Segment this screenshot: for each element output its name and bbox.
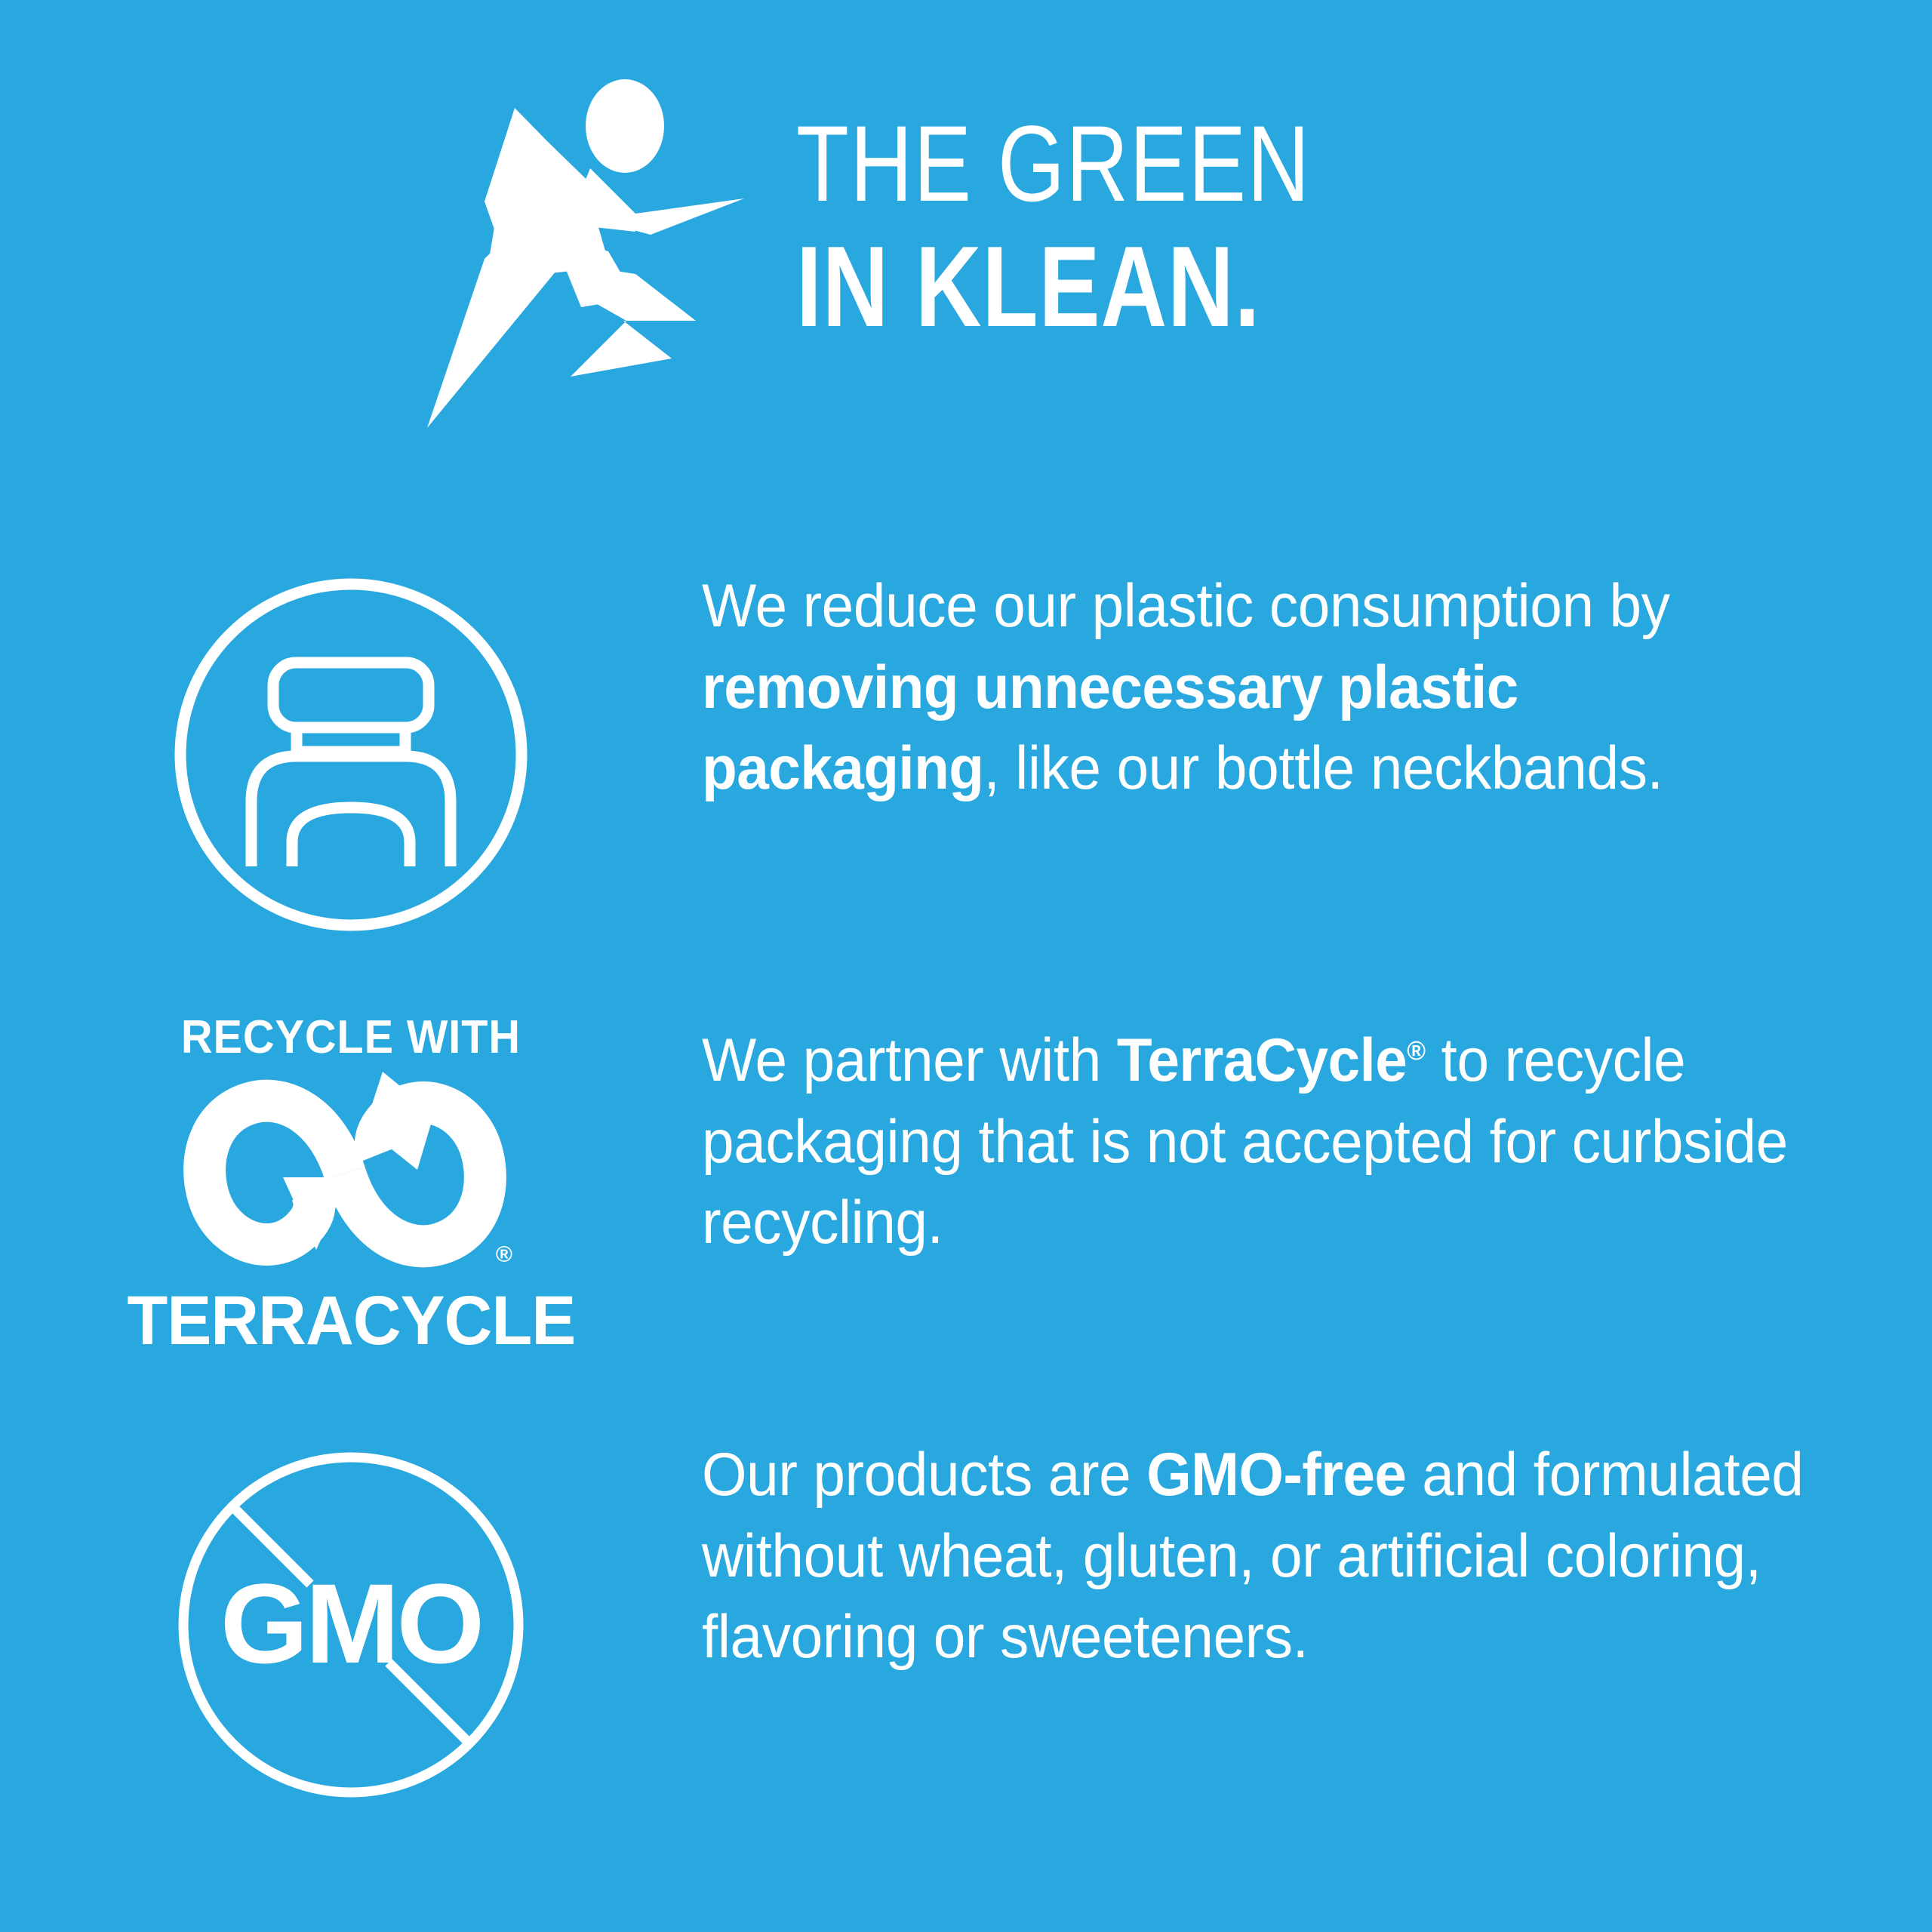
text-segment-bold: GMO-free [1146,1441,1406,1509]
icon-cell: RECYCLE WITH ® TERRACYCLE [0,1004,702,1355]
text-segment: We partner with [702,1026,1117,1094]
feature-text-terracycle: We partner with TerraCycle® to recycle p… [702,1004,1822,1264]
feature-row-terracycle: RECYCLE WITH ® TERRACYCLE [0,1004,1932,1381]
headline-line-2: IN KLEAN. [796,232,1581,341]
feature-row-plastic-reduction: We reduce our plastic consumption by rem… [0,558,1932,981]
registered-mark-icon: ® [496,1244,512,1266]
text-cell: We partner with TerraCycle® to recycle p… [702,1004,1932,1264]
no-gmo-icon: GMO [162,1436,540,1814]
icon-cell [0,558,702,943]
text-segment: , like our bottle neckbands. [983,734,1663,802]
feature-text-gmo-free: Our products are GMO-free and formulated… [702,1430,1822,1678]
headline-line-1: THE GREEN [796,113,1581,216]
bottle-in-circle-icon [162,566,540,943]
text-cell: Our products are GMO-free and formulated… [702,1430,1932,1678]
page-title: THE GREEN IN KLEAN. [796,113,1777,341]
header: THE GREEN IN KLEAN. [0,0,1932,483]
text-segment: Our products are [702,1441,1146,1509]
feature-text-plastic-reduction: We reduce our plastic consumption by rem… [702,558,1822,810]
gmo-text-label: GMO [220,1560,481,1687]
text-segment-bold: TerraCycle [1117,1026,1407,1094]
terracycle-logo: RECYCLE WITH ® TERRACYCLE [174,1014,528,1355]
icon-cell: GMO [0,1430,702,1814]
text-segment: We reduce our plastic consumption by [702,572,1670,640]
terracycle-top-label: RECYCLE WITH [181,1014,521,1061]
text-cell: We reduce our plastic consumption by rem… [702,558,1932,810]
green-in-klean-infographic: { "colors": { "background": "#29a8e0", "… [0,0,1932,1932]
feature-row-gmo-free: GMO Our products are GMO-free and formul… [0,1430,1932,1853]
terracycle-wordmark: TERRACYCLE [127,1286,575,1355]
infinity-recycle-loop-icon: ® [185,1072,517,1275]
registered-mark-icon: ® [1407,1035,1425,1066]
running-figure-icon [355,72,747,449]
